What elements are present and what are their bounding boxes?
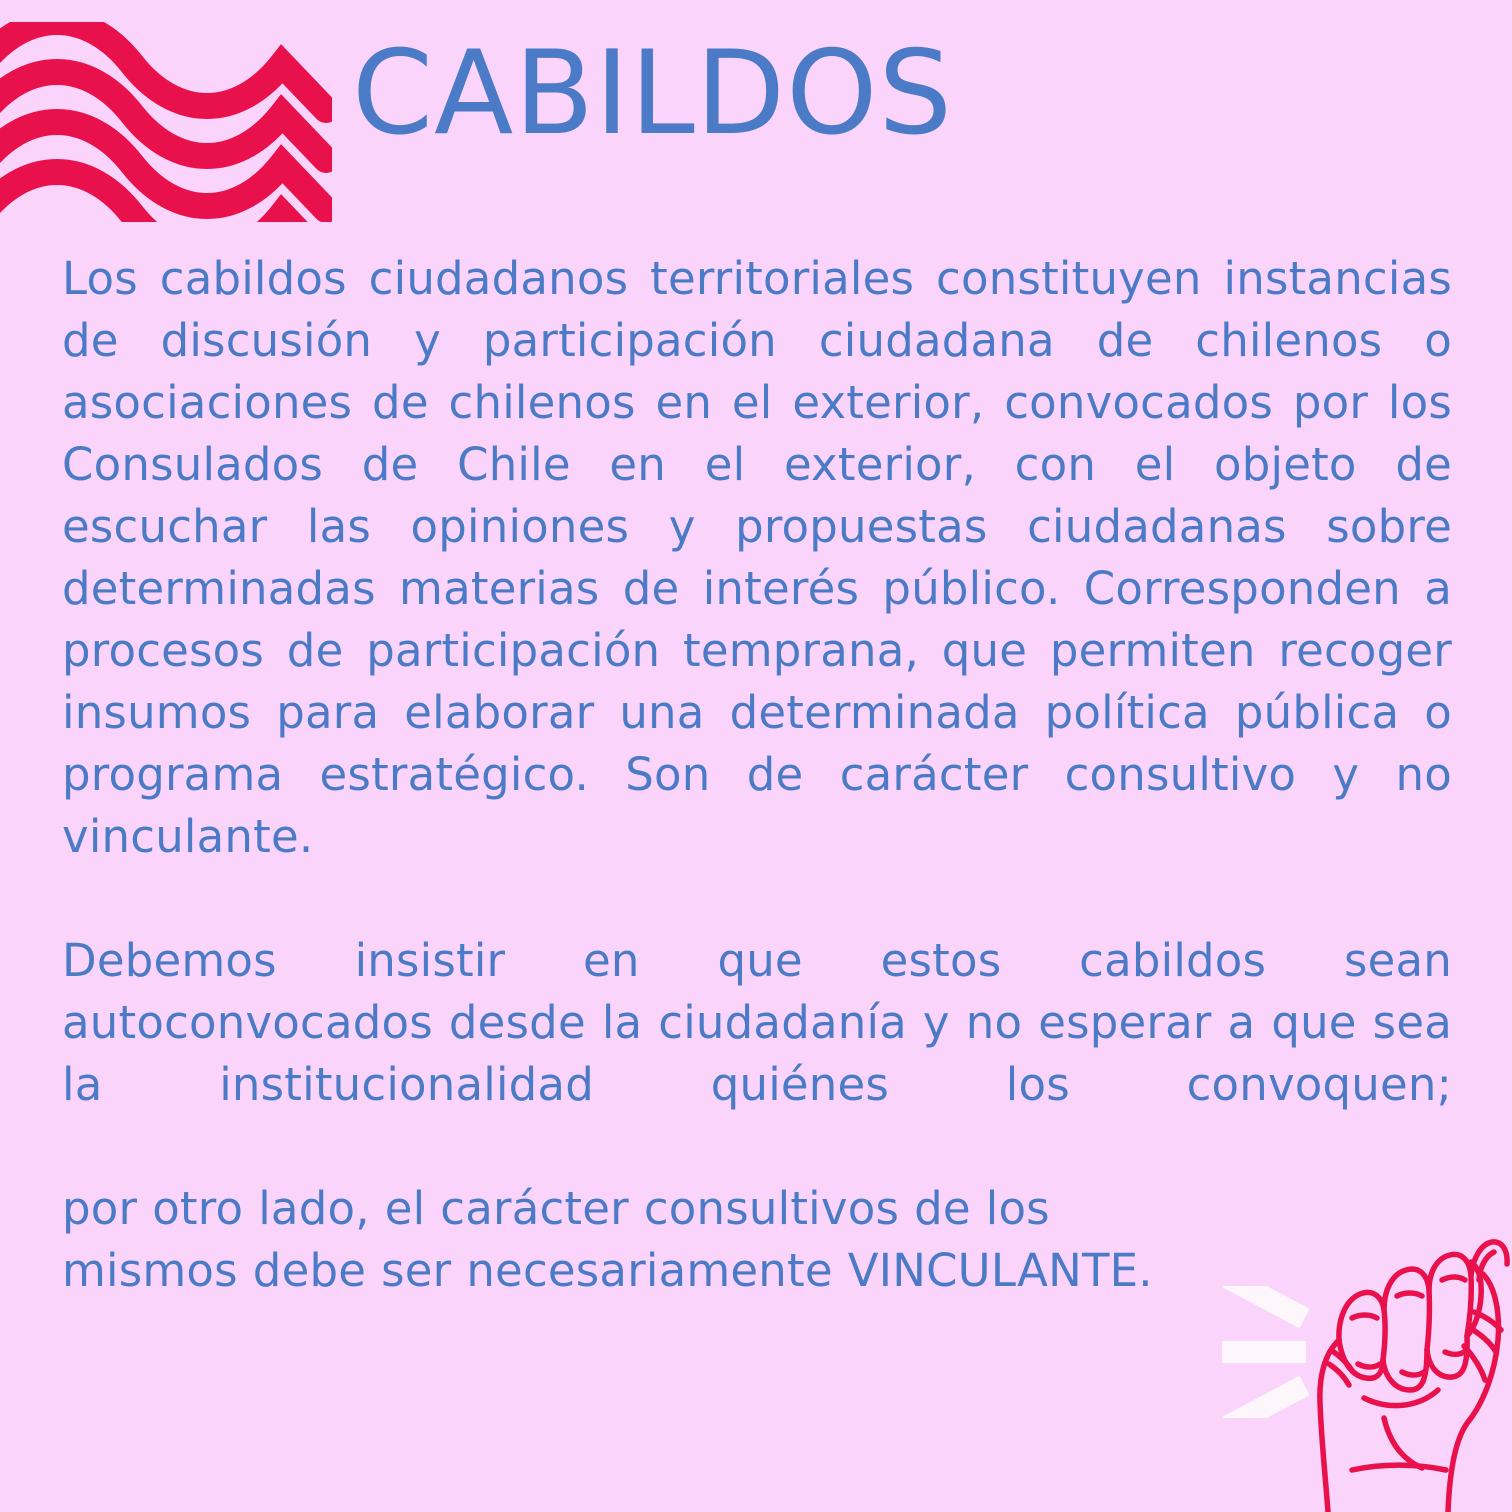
poster-canvas: CABILDOS Los cabildos ciudadanos territo…	[0, 0, 1512, 1512]
paragraph-2: Debemos insistir en que estos cabildos s…	[62, 930, 1452, 1178]
page-title: CABILDOS	[352, 36, 953, 152]
raised-fist-icon	[1298, 1222, 1512, 1512]
wave-logo-icon	[0, 22, 332, 222]
paragraph-1: Los cabildos ciudadanos territoriales co…	[62, 248, 1452, 930]
paragraph-3: por otro lado, el carácter consultivos d…	[62, 1178, 1452, 1240]
body-copy: Los cabildos ciudadanos territoriales co…	[62, 248, 1452, 1302]
poster-header: CABILDOS	[0, 0, 1512, 232]
